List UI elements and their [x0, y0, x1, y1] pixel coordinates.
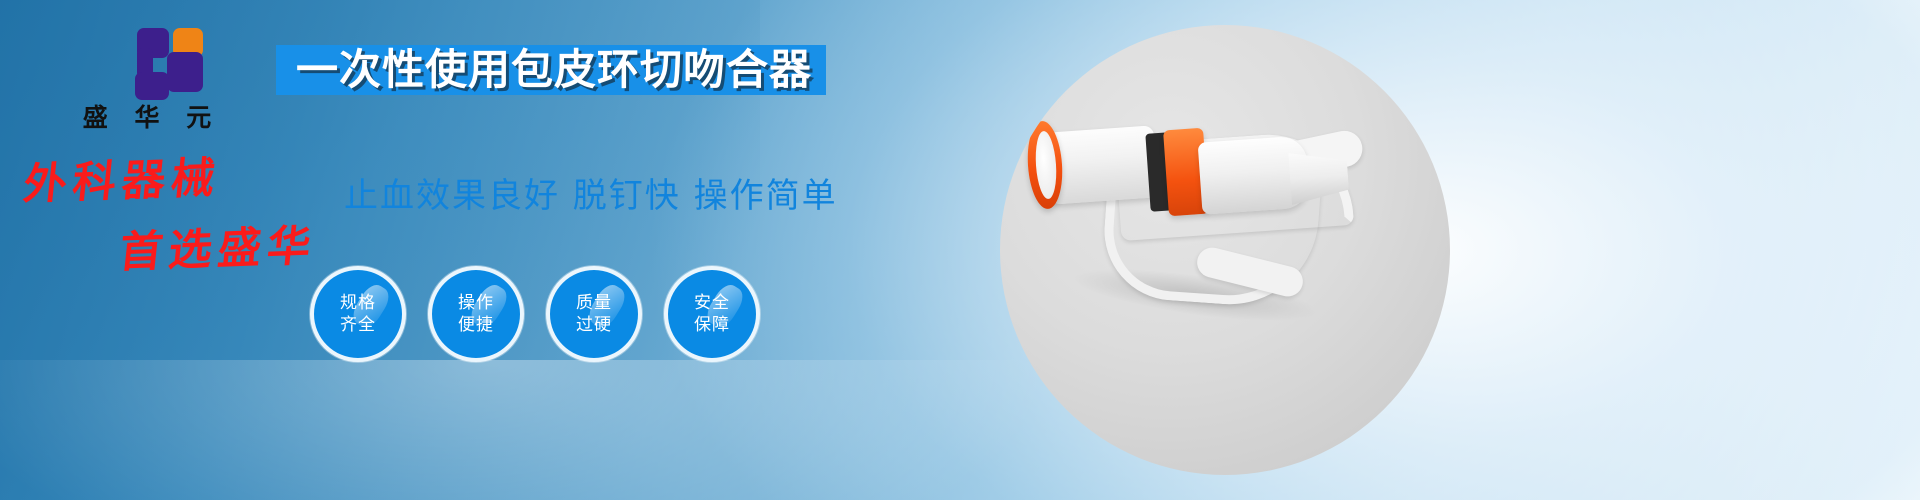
feature-2-line-1: 操作	[458, 292, 494, 314]
logo-block-4	[167, 52, 203, 92]
stapler-body-cylinder	[1046, 125, 1159, 204]
calligraphy-slogan: 外科器械 首选盛华	[24, 150, 354, 280]
feature-3-line-1: 质量	[576, 292, 612, 314]
feature-circle-1[interactable]: 规格 齐全	[310, 266, 406, 362]
headline-text: 一次性使用包皮环切吻合器	[296, 45, 812, 95]
feature-1-line-2: 齐全	[340, 314, 376, 336]
feature-1-line-1: 规格	[340, 292, 376, 314]
product-photo	[1000, 25, 1450, 475]
logo-blocks-icon	[111, 28, 183, 92]
headline-bar: 一次性使用包皮环切吻合器	[276, 45, 826, 95]
feature-circle-list: 规格 齐全 操作 便捷 质量 过硬 安全 保障	[310, 266, 760, 362]
promo-banner: 盛 华 元 一次性使用包皮环切吻合器 外科器械 首选盛华 止血效果良好 脱钉快 …	[0, 0, 1920, 500]
calligraphy-line-1: 外科器械	[21, 139, 359, 212]
subtitle-text: 止血效果良好 脱钉快 操作简单	[344, 168, 838, 217]
feature-circle-4[interactable]: 安全 保障	[664, 266, 760, 362]
feature-circle-2[interactable]: 操作 便捷	[428, 266, 524, 362]
logo-block-5	[135, 72, 169, 100]
background-glow	[0, 360, 1100, 500]
feature-4-line-2: 保障	[694, 314, 730, 336]
feature-3-line-2: 过硬	[576, 314, 612, 336]
brand-logo[interactable]: 盛 华 元	[72, 28, 222, 134]
feature-2-line-2: 便捷	[458, 314, 494, 336]
feature-circle-3[interactable]: 质量 过硬	[546, 266, 642, 362]
company-name: 盛 华 元	[72, 98, 222, 134]
feature-4-line-1: 安全	[694, 292, 730, 314]
